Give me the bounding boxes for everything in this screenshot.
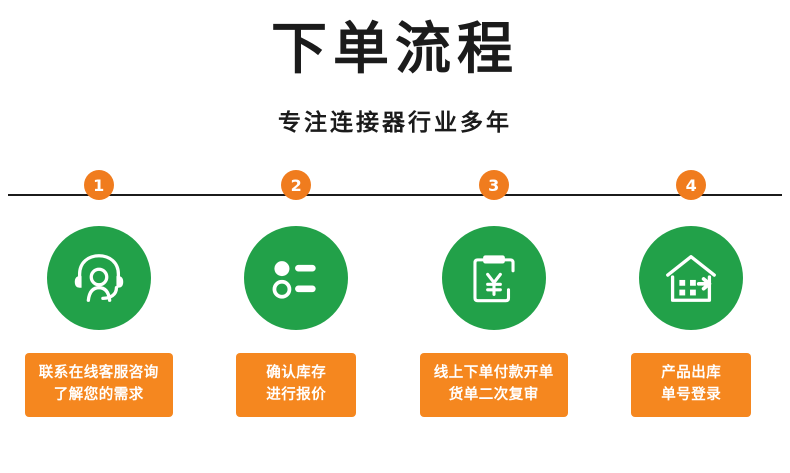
steps-row: 1 联系在线客服咨询 了解您的需求 2 <box>0 170 790 417</box>
step-label: 产品出库 单号登录 <box>631 353 751 417</box>
page-subtitle: 专注连接器行业多年 <box>0 103 790 137</box>
step-3[interactable]: 3 线上下单付款开单 货单二次复审 <box>395 170 593 417</box>
step-2[interactable]: 2 确认库存 进行报价 <box>198 170 396 417</box>
step-1[interactable]: 1 联系在线客服咨询 了解您的需求 <box>0 170 198 417</box>
step-label: 联系在线客服咨询 了解您的需求 <box>25 353 173 417</box>
step-number-badge: 4 <box>676 170 706 200</box>
page-title: 下单流程 <box>0 18 790 82</box>
step-icon-circle <box>244 226 348 330</box>
step-label: 线上下单付款开单 货单二次复审 <box>420 353 568 417</box>
step-number-badge: 2 <box>281 170 311 200</box>
step-label: 确认库存 进行报价 <box>236 353 356 417</box>
warehouse-outbound-icon <box>660 247 722 309</box>
step-number-badge: 3 <box>479 170 509 200</box>
step-icon-circle <box>442 226 546 330</box>
clipboard-yuan-invoice-icon <box>465 249 523 307</box>
step-icon-circle <box>47 226 151 330</box>
step-number-badge: 1 <box>84 170 114 200</box>
step-4[interactable]: 4 产品出库 单号登录 <box>593 170 790 417</box>
step-icon-circle <box>639 226 743 330</box>
checklist-inventory-icon <box>266 248 326 308</box>
headset-support-icon <box>68 247 130 309</box>
order-process-infographic: 下单流程 专注连接器行业多年 1 联系在线客服咨询 了解您的需求 <box>0 0 790 473</box>
